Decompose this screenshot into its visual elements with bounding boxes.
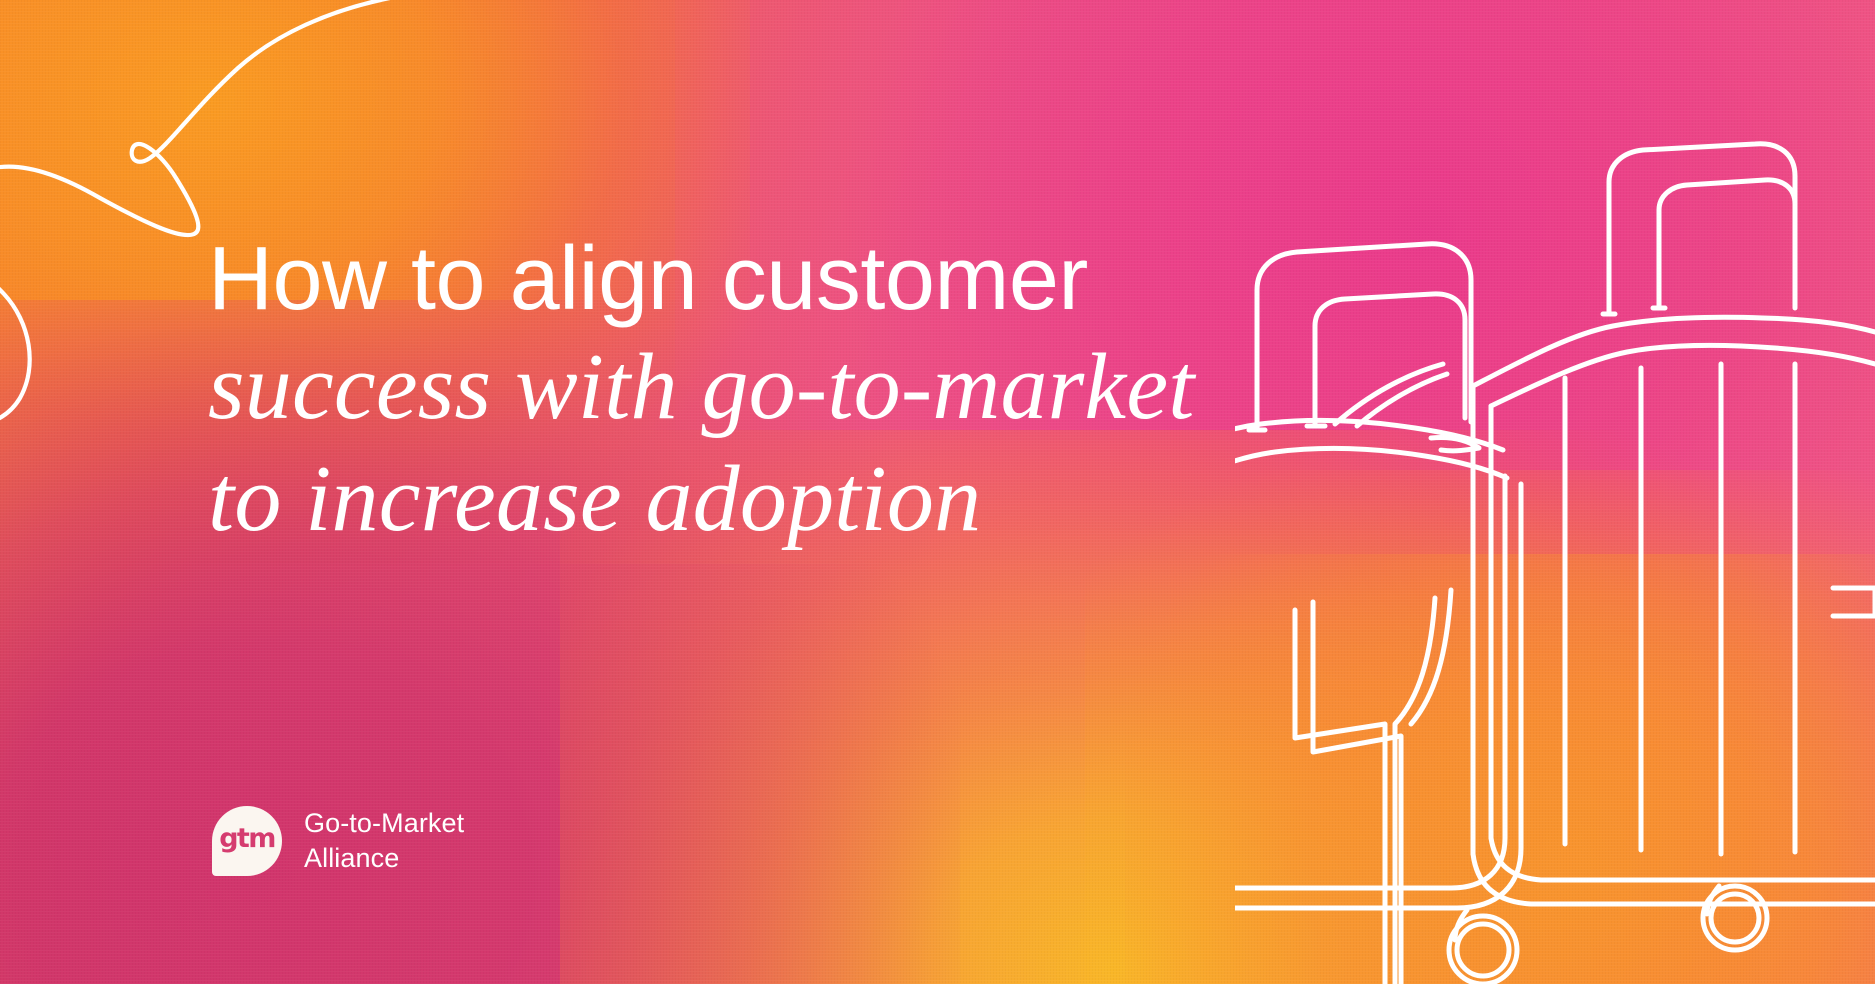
headline-line-3: to increase adoption xyxy=(208,443,1328,556)
brand-name-line-2: Alliance xyxy=(304,841,464,876)
brand-name-line-1: Go-to-Market xyxy=(304,806,464,841)
gtm-logo-wordmark: gtm xyxy=(212,806,282,876)
brand-name: Go-to-Market Alliance xyxy=(304,806,464,876)
gtm-logo-icon: gtm xyxy=(212,806,282,876)
brand-lockup: gtm Go-to-Market Alliance xyxy=(212,806,464,876)
headline-line-2: success with go-to-market xyxy=(208,331,1328,444)
headline-line-1: How to align customer xyxy=(208,228,1328,331)
page-title: How to align customer success with go-to… xyxy=(208,228,1328,556)
cover-canvas: How to align customer success with go-to… xyxy=(0,0,1875,984)
headline-block: How to align customer success with go-to… xyxy=(208,228,1328,556)
